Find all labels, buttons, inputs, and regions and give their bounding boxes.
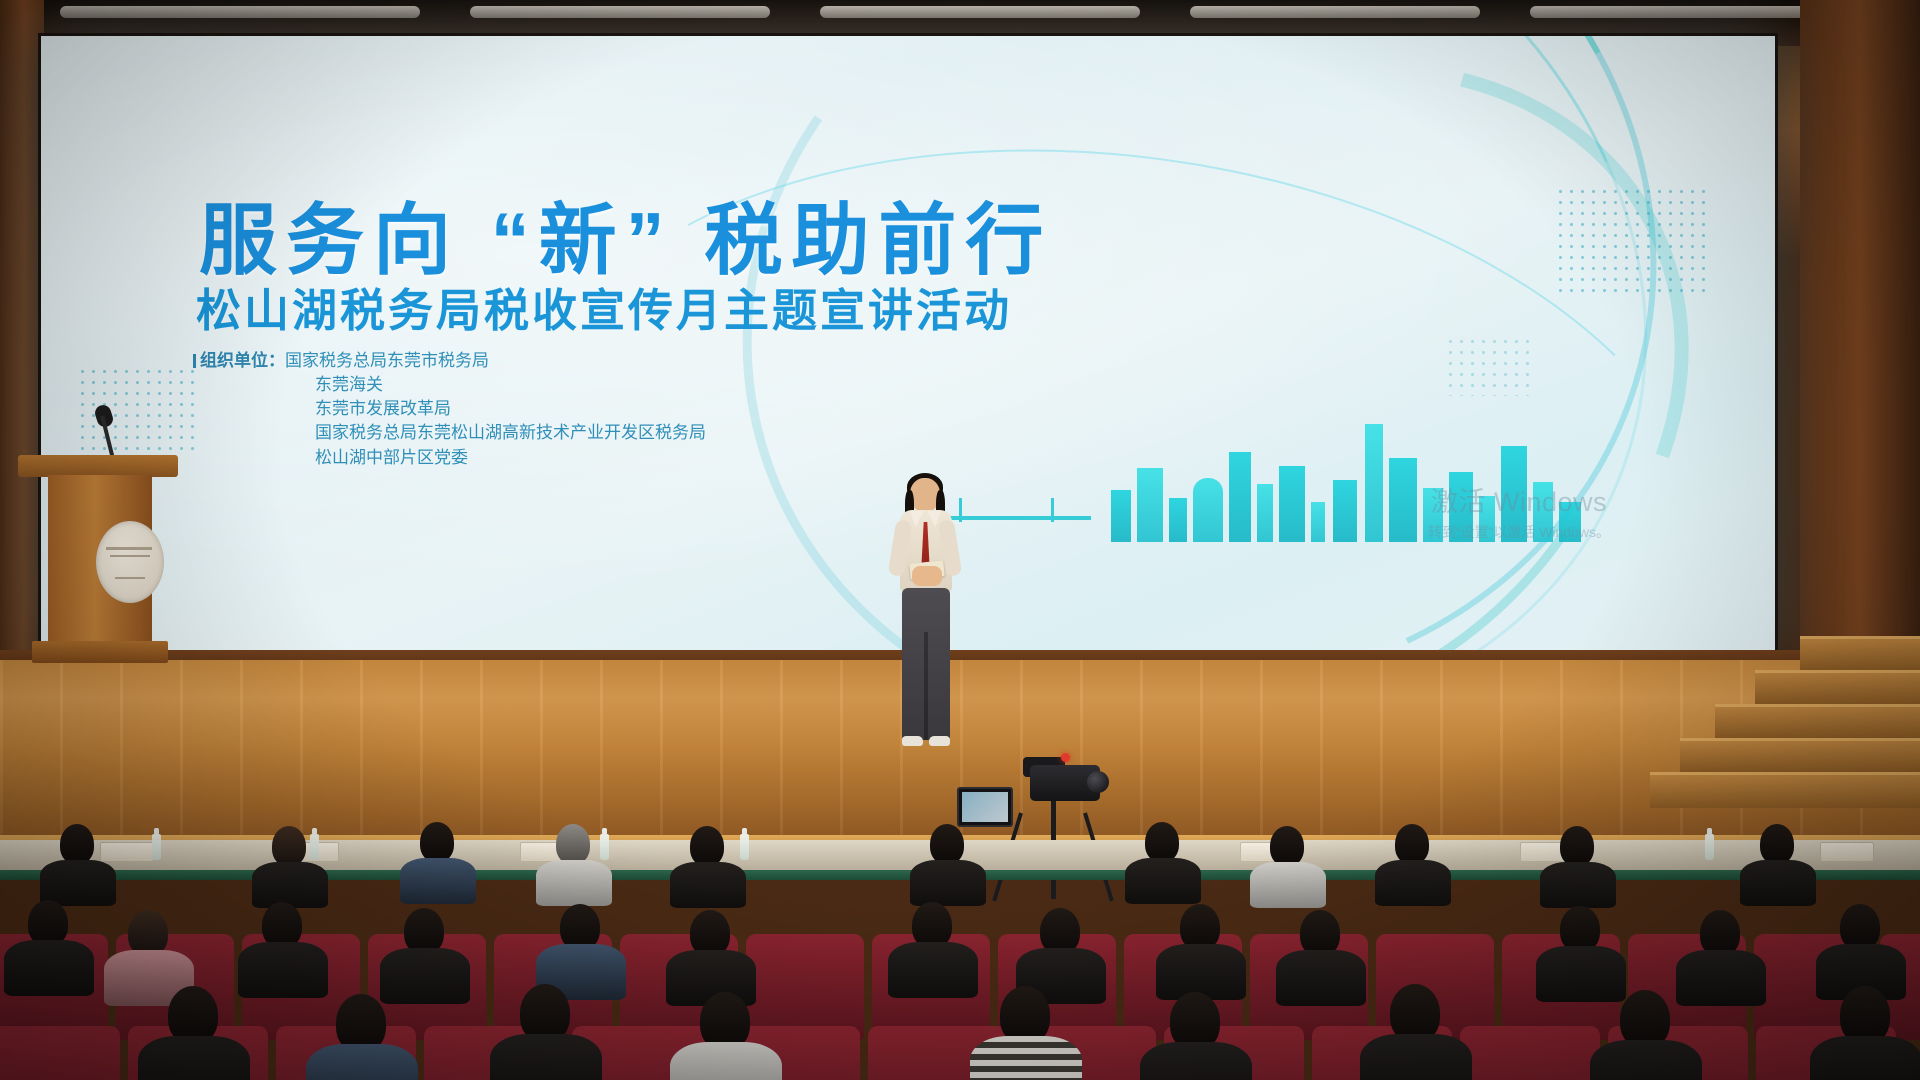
organizer-item: 东莞海关: [315, 375, 383, 394]
ceiling-light-strip: [820, 6, 1140, 18]
organizer-list: 组织单位：国家税务总局东莞市税务局 东莞海关 东莞市发展改革局 国家税务总局东莞…: [193, 349, 706, 470]
lectern-emblem: [96, 521, 164, 603]
organizer-item: 国家税务总局东莞市税务局: [285, 351, 489, 370]
organizer-label: 组织单位：: [200, 349, 285, 373]
dot-grid-decoration: [1555, 186, 1705, 296]
organizer-item: 松山湖中部片区党委: [315, 448, 468, 467]
ceiling-light-strip: [470, 6, 770, 18]
organizer-item: 国家税务总局东莞松山湖高新技术产业开发区税务局: [315, 423, 706, 442]
water-bottle: [310, 834, 319, 860]
ceiling-light-strip: [60, 6, 420, 18]
lectern-base: [32, 641, 168, 663]
watermark-subtitle: 转到“设置”以激活 Windows。: [1428, 522, 1610, 542]
lectern: [18, 455, 178, 665]
slide-subtitle: 松山湖税务局税收宣传月主题宣讲活动: [196, 274, 1012, 339]
presenter: [880, 478, 970, 778]
water-bottle: [1705, 834, 1714, 860]
presenter-shoe: [902, 736, 923, 746]
auditorium-scene: 服务向 “新” 税助前行 松山湖税务局税收宣传月主题宣讲活动 组织单位：国家税务…: [0, 0, 1920, 1080]
presenter-hands: [912, 566, 942, 586]
organizer-item: 东莞市发展改革局: [315, 399, 451, 418]
ceiling-light-strip: [1190, 6, 1480, 18]
audience-area: [0, 790, 1920, 1080]
name-card: [1820, 842, 1874, 862]
lectern-top: [18, 455, 178, 477]
hall-wall-right: [1800, 0, 1920, 700]
windows-activation-watermark: 激活 Windows 转到“设置”以激活 Windows。: [1428, 480, 1610, 542]
lectern-body: [48, 475, 152, 645]
water-bottle: [600, 834, 609, 860]
name-card: [100, 842, 154, 862]
presenter-shoe: [929, 736, 950, 746]
presenter-trousers: [902, 588, 950, 740]
camera-record-light: [1061, 753, 1070, 762]
watermark-title: 激活 Windows: [1428, 480, 1610, 519]
water-bottle: [740, 834, 749, 860]
water-bottle: [152, 834, 161, 860]
organizer-bullet-bar: [193, 354, 196, 368]
dot-grid-decoration: [1445, 336, 1535, 396]
